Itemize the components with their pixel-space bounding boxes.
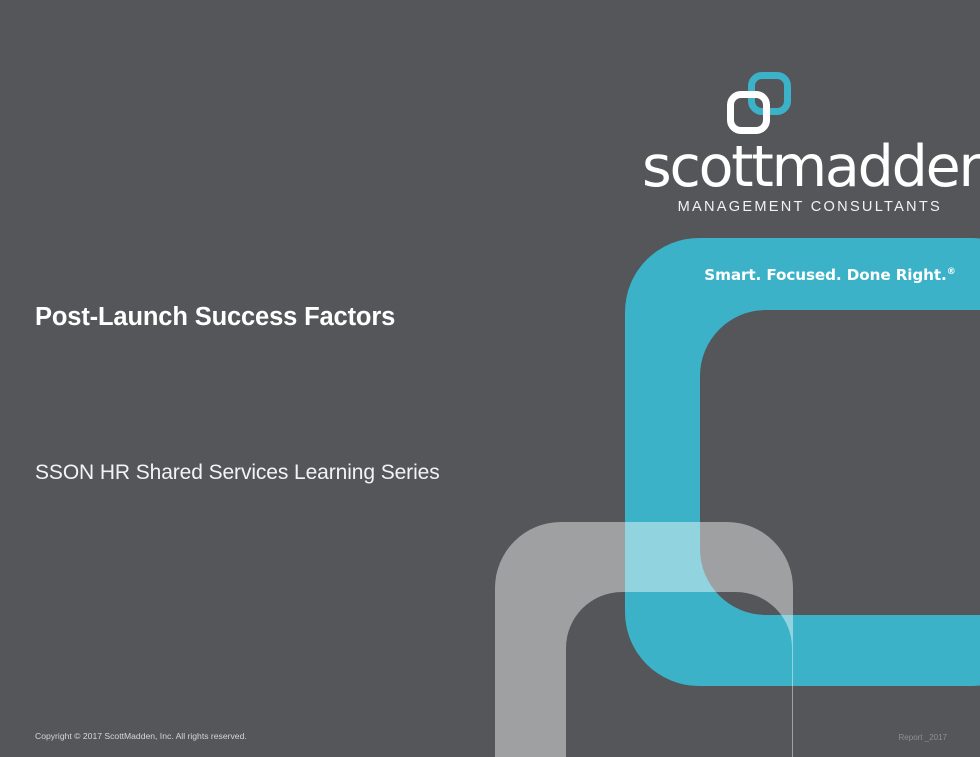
report-identifier: Report _2017 <box>899 733 947 742</box>
brand-wordmark-subtitle: MANAGEMENT CONSULTANTS <box>642 199 942 215</box>
title-slide: scottmadden MANAGEMENT CONSULTANTS Smart… <box>0 0 980 757</box>
registered-trademark-mark: ® <box>947 267 956 277</box>
interlocking-rounded-squares-icon <box>727 72 791 134</box>
brand-tagline: Smart. Focused. Done Right.® <box>700 266 960 284</box>
tagline-text: Smart. Focused. Done Right. <box>704 266 946 284</box>
page-subtitle: SSON HR Shared Services Learning Series <box>35 461 440 485</box>
page-title: Post-Launch Success Factors <box>35 303 395 332</box>
brand-wordmark: scottmadden <box>642 140 942 194</box>
brand-logo: scottmadden MANAGEMENT CONSULTANTS <box>642 72 942 215</box>
copyright-notice: Copyright © 2017 ScottMadden, Inc. All r… <box>35 731 247 741</box>
